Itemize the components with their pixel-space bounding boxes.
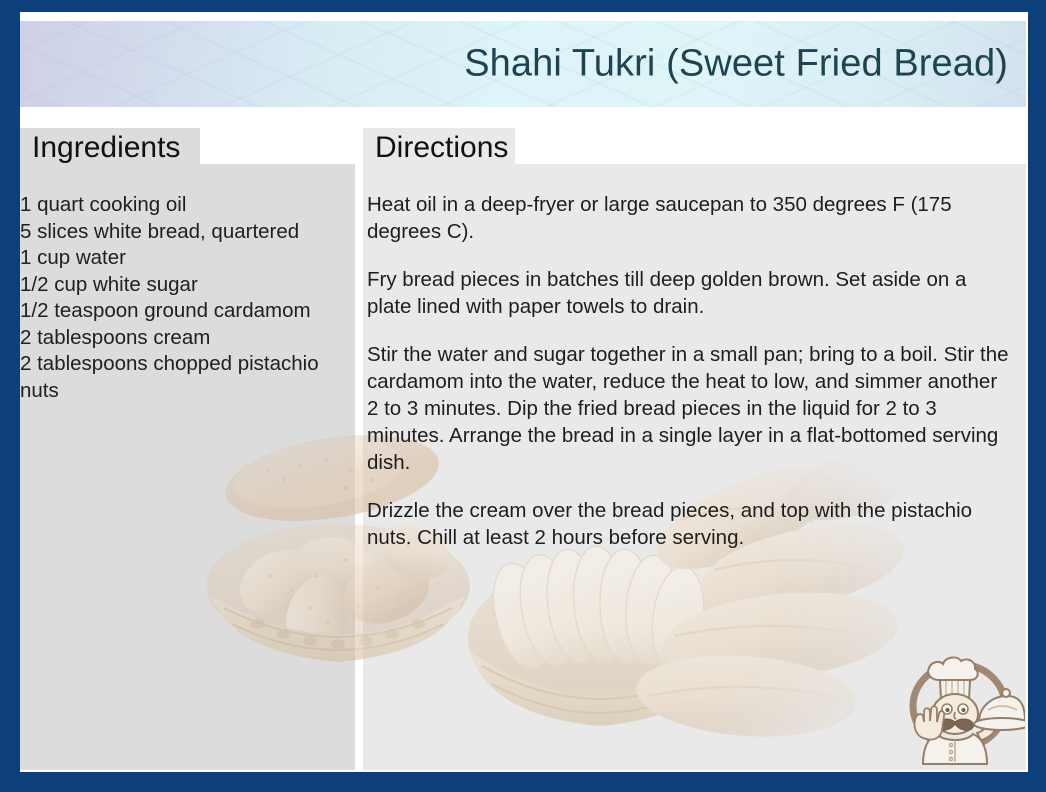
chef-with-cloche-logo	[893, 648, 1025, 774]
directions-steps: Heat oil in a deep-fryer or large saucep…	[367, 191, 1012, 551]
direction-step: Fry bread pieces in batches till deep go…	[367, 266, 1012, 320]
ingredients-heading-tab: Ingredients	[20, 128, 200, 168]
title-banner: Shahi Tukri (Sweet Fried Bread)	[20, 21, 1026, 107]
border-left	[0, 0, 20, 792]
border-top	[0, 0, 1046, 12]
list-item: 1/2 teaspoon ground cardamom	[20, 298, 360, 325]
list-item: 1 cup water	[20, 245, 360, 272]
direction-step: Heat oil in a deep-fryer or large saucep…	[367, 191, 1012, 245]
page-title: Shahi Tukri (Sweet Fried Bread)	[464, 43, 1008, 86]
list-item: 2 tablespoons cream	[20, 325, 360, 352]
list-item: 2 tablespoons chopped pistachio nuts	[20, 351, 360, 404]
direction-step: Stir the water and sugar together in a s…	[367, 341, 1012, 476]
directions-heading-tab: Directions	[363, 128, 515, 168]
ingredients-heading: Ingredients	[32, 131, 180, 165]
list-item: 1 quart cooking oil	[20, 192, 360, 219]
ingredients-list: 1 quart cooking oil 5 slices white bread…	[20, 192, 360, 404]
direction-step: Drizzle the cream over the bread pieces,…	[367, 497, 1012, 551]
recipe-card: Shahi Tukri (Sweet Fried Bread) Ingredie…	[0, 0, 1046, 792]
border-bottom	[0, 772, 1046, 792]
border-right	[1028, 0, 1046, 792]
list-item: 1/2 cup white sugar	[20, 272, 360, 299]
directions-heading: Directions	[375, 131, 508, 165]
list-item: 5 slices white bread, quartered	[20, 219, 360, 246]
